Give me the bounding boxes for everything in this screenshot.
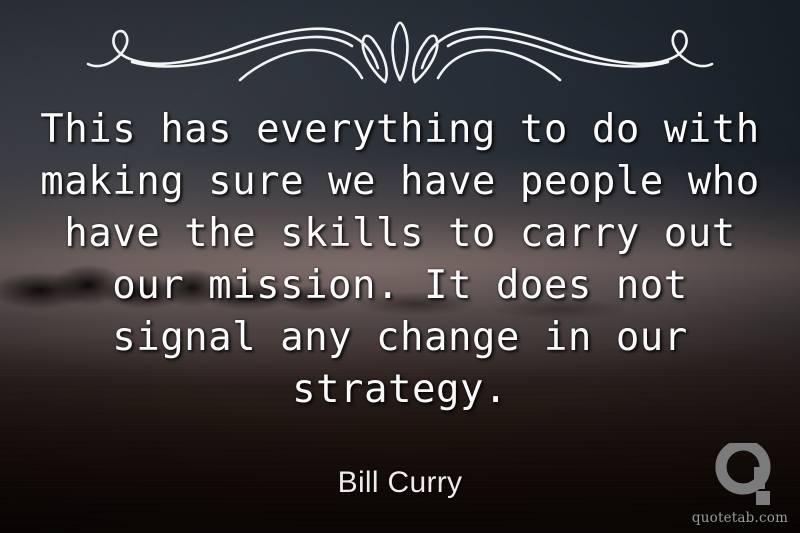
flourish-divider-ornament: [0, 8, 800, 94]
quote-author: Bill Curry: [0, 466, 800, 500]
quote-text: This has everything to do with making su…: [30, 104, 770, 416]
quote-image-card: This has everything to do with making su…: [0, 0, 800, 533]
quotetab-logo-icon[interactable]: [712, 443, 774, 505]
watermark[interactable]: quotetab.com: [688, 443, 792, 529]
watermark-site-label[interactable]: quotetab.com: [688, 510, 792, 526]
